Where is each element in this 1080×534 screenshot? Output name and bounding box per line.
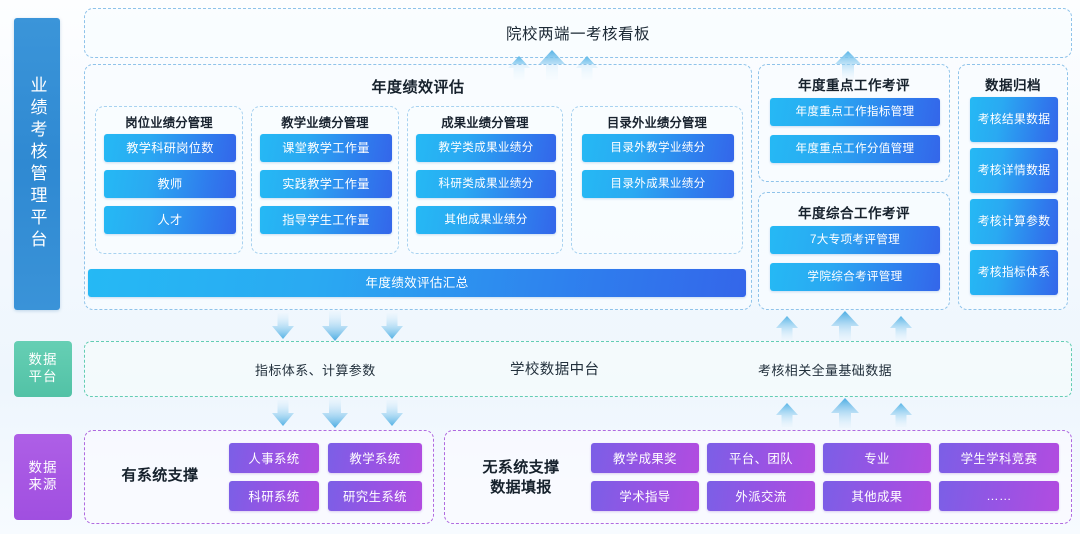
card-src-competition[interactable]: 学生学科竞赛 <box>939 443 1059 473</box>
card-offcat-1[interactable]: 目录外教学业绩分 <box>582 134 734 162</box>
group-with-system-label: 有系统支撑 <box>99 466 221 486</box>
card-ach-1[interactable]: 教学类成果业绩分 <box>416 134 556 162</box>
arrow-down-source-1 <box>270 399 296 427</box>
platform-item-2: 学校数据中台 <box>510 358 599 379</box>
arrow-down-source-3 <box>379 399 405 427</box>
subgroup-teaching-score-title: 教学业绩分管理 <box>252 107 398 131</box>
arrow-up-platform-1 <box>774 315 800 341</box>
arrow-down-platform-3 <box>379 312 405 340</box>
diagram-canvas: 业绩考核管理平台 院校两端一考核看板 年度绩效评估 岗位业绩分管理 教学科研岗位… <box>0 0 1080 534</box>
kanban-banner-label: 院校两端一考核看板 <box>506 22 650 44</box>
card-teach-3[interactable]: 指导学生工作量 <box>260 206 392 234</box>
platform-item-1: 指标体系、计算参数 <box>255 360 376 379</box>
card-offcat-2[interactable]: 目录外成果业绩分 <box>582 170 734 198</box>
group-with-system: 有系统支撑 人事系统 教学系统 科研系统 研究生系统 <box>84 430 434 524</box>
annual-performance-summary-bar[interactable]: 年度绩效评估汇总 <box>88 269 746 297</box>
subgroup-achievement-score: 成果业绩分管理 教学类成果业绩分 科研类成果业绩分 其他成果业绩分 <box>407 106 563 254</box>
card-archive-2[interactable]: 考核详情数据 <box>970 148 1058 193</box>
arrow-up-platform-2 <box>829 310 861 342</box>
annual-performance-title: 年度绩效评估 <box>85 65 751 97</box>
arrow-up-source-3 <box>888 402 914 428</box>
tier-label-data-platform: 数据平台 <box>14 341 72 397</box>
card-src-teaching-award[interactable]: 教学成果奖 <box>591 443 699 473</box>
data-archive-title: 数据归档 <box>959 65 1067 94</box>
kanban-banner: 院校两端一考核看板 <box>84 8 1072 58</box>
card-comp-2[interactable]: 学院综合考评管理 <box>770 263 940 291</box>
card-archive-3[interactable]: 考核计算参数 <box>970 199 1058 244</box>
card-teach-2[interactable]: 实践教学工作量 <box>260 170 392 198</box>
data-platform-box: 指标体系、计算参数 学校数据中台 考核相关全量基础数据 <box>84 341 1072 397</box>
card-key-work-1[interactable]: 年度重点工作指标管理 <box>770 98 940 126</box>
arrow-down-platform-1 <box>270 312 296 340</box>
card-src-platform-team[interactable]: 平台、团队 <box>707 443 815 473</box>
group-comprehensive-title: 年度综合工作考评 <box>759 193 949 222</box>
card-src-graduate[interactable]: 研究生系统 <box>328 481 422 511</box>
tier-label-platform: 业绩考核管理平台 <box>14 18 60 310</box>
card-src-other-results[interactable]: 其他成果 <box>823 481 931 511</box>
subgroup-offcatalog-score-title: 目录外业绩分管理 <box>572 107 742 131</box>
card-src-hr[interactable]: 人事系统 <box>229 443 319 473</box>
card-post-2[interactable]: 教师 <box>104 170 236 198</box>
subgroup-post-score-title: 岗位业绩分管理 <box>96 107 242 131</box>
subgroup-post-score: 岗位业绩分管理 教学科研岗位数 教师 人才 <box>95 106 243 254</box>
subgroup-achievement-score-title: 成果业绩分管理 <box>408 107 562 131</box>
card-archive-1[interactable]: 考核结果数据 <box>970 97 1058 142</box>
card-ach-2[interactable]: 科研类成果业绩分 <box>416 170 556 198</box>
card-comp-1[interactable]: 7大专项考评管理 <box>770 226 940 254</box>
card-key-work-2[interactable]: 年度重点工作分值管理 <box>770 135 940 163</box>
group-without-system-label-line2: 数据填报 <box>490 479 552 496</box>
arrow-up-platform-3 <box>888 315 914 341</box>
platform-item-3: 考核相关全量基础数据 <box>758 360 892 379</box>
arrow-up-source-2 <box>829 397 861 429</box>
group-comprehensive-assessment: 年度综合工作考评 7大专项考评管理 学院综合考评管理 <box>758 192 950 310</box>
card-teach-1[interactable]: 课堂教学工作量 <box>260 134 392 162</box>
arrow-down-platform-2 <box>320 310 350 342</box>
card-src-teaching[interactable]: 教学系统 <box>328 443 422 473</box>
assessment-groups-column: 年度重点工作考评 年度重点工作指标管理 年度重点工作分值管理 年度综合工作考评 … <box>758 64 950 310</box>
card-archive-4[interactable]: 考核指标体系 <box>970 250 1058 295</box>
group-key-work-assessment: 年度重点工作考评 年度重点工作指标管理 年度重点工作分值管理 <box>758 64 950 182</box>
card-post-3[interactable]: 人才 <box>104 206 236 234</box>
card-src-exchange[interactable]: 外派交流 <box>707 481 815 511</box>
card-post-1[interactable]: 教学科研岗位数 <box>104 134 236 162</box>
group-without-system-label-line1: 无系统支撑 <box>482 459 559 476</box>
arrow-up-banner-4 <box>833 50 863 80</box>
card-ach-3[interactable]: 其他成果业绩分 <box>416 206 556 234</box>
tier-label-data-source: 数据来源 <box>14 434 72 520</box>
arrow-down-source-2 <box>320 397 350 429</box>
arrow-up-source-1 <box>774 402 800 428</box>
card-src-research[interactable]: 科研系统 <box>229 481 319 511</box>
subgroup-offcatalog-score: 目录外业绩分管理 目录外教学业绩分 目录外成果业绩分 <box>571 106 743 254</box>
card-src-academic-guidance[interactable]: 学术指导 <box>591 481 699 511</box>
card-src-ellipsis[interactable]: …… <box>939 481 1059 511</box>
group-without-system: 无系统支撑 数据填报 教学成果奖 平台、团队 专业 学生学科竞赛 学术指导 外派… <box>444 430 1072 524</box>
group-without-system-label: 无系统支撑 数据填报 <box>459 458 583 497</box>
card-src-major[interactable]: 专业 <box>823 443 931 473</box>
tier-label-data-platform-text: 数据平台 <box>26 352 60 386</box>
tier-label-data-source-text: 数据来源 <box>26 460 60 494</box>
data-archive-group: 数据归档 考核结果数据 考核详情数据 考核计算参数 考核指标体系 <box>958 64 1068 310</box>
subgroup-teaching-score: 教学业绩分管理 课堂教学工作量 实践教学工作量 指导学生工作量 <box>251 106 399 254</box>
